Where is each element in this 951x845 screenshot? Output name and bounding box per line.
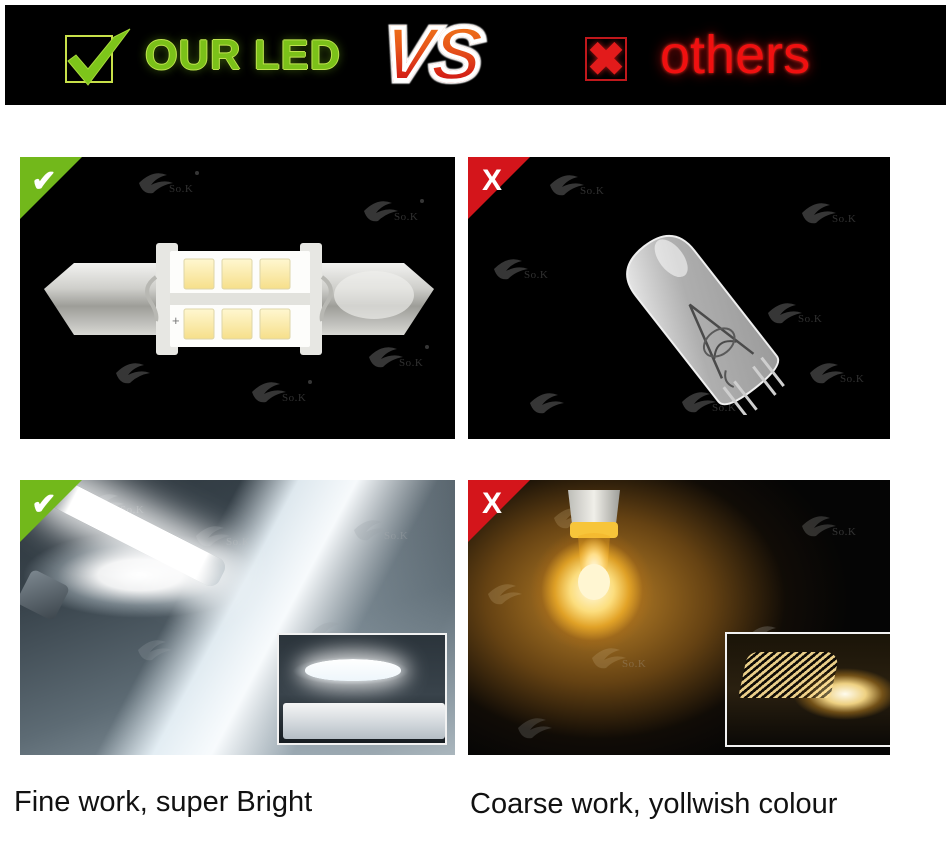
dome-lens-white <box>305 659 401 681</box>
inset-car-dome-light-white <box>277 633 447 745</box>
dashboard-strip <box>283 703 445 739</box>
svg-text:+: + <box>172 313 180 328</box>
panel-bottom-left: So.K So.K So.K So.K ✔ <box>20 480 455 755</box>
watermark-text: So.K <box>169 183 193 195</box>
comparison-header-banner: OUR LED VS VS ✖ others <box>5 5 946 105</box>
watermark-text: So.K <box>282 392 306 404</box>
x-badge-icon: X <box>468 157 516 205</box>
our-led-label: OUR LED <box>145 31 341 79</box>
inset-car-dome-light-yellow <box>725 632 890 747</box>
watermark-text: So.K <box>394 211 418 223</box>
check-mark-icon <box>62 25 134 93</box>
dome-light-grille <box>738 652 840 698</box>
glass-wedge-bulb-image <box>598 185 868 415</box>
festoon-led-bulb-image: + <box>44 229 434 369</box>
x-mark-icon: ✖ <box>583 33 629 85</box>
watermark-text: So.K <box>524 269 548 281</box>
panel-top-right: So.K So.K So.K So.K So.K So.K <box>468 157 890 439</box>
panel-bottom-right: So.K So.K So.K X <box>468 480 890 755</box>
versus-label: VS <box>379 17 484 93</box>
others-label: others <box>660 24 810 86</box>
lit-halogen-bulb <box>554 490 634 620</box>
check-badge-icon: ✔ <box>20 480 68 528</box>
check-badge-icon: ✔ <box>20 157 68 205</box>
caption-left: Fine work, super Bright <box>14 786 312 819</box>
panel-top-left: So.K So.K So.K So.K <box>20 157 455 439</box>
x-badge-icon: X <box>468 480 516 528</box>
caption-right: Coarse work, yollwish colour <box>470 788 837 821</box>
